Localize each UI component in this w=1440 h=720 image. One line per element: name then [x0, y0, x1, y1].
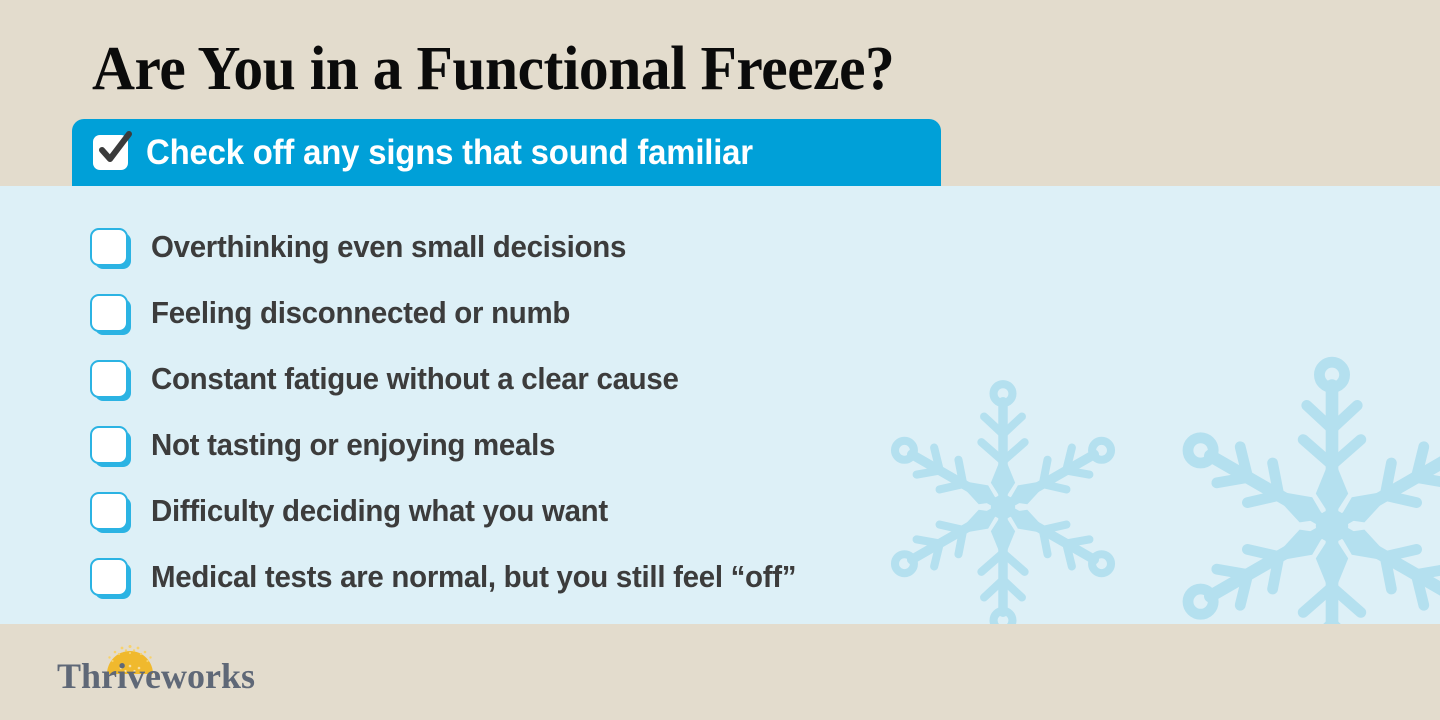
logo-wordmark: Thriveworks: [57, 656, 255, 696]
list-item-label: Overthinking even small decisions: [151, 230, 626, 264]
unchecked-checkbox-icon[interactable]: [90, 426, 128, 464]
unchecked-checkbox-icon[interactable]: [90, 558, 128, 596]
list-item[interactable]: Feeling disconnected or numb: [90, 280, 1090, 346]
page-title: Are You in a Functional Freeze?: [92, 34, 894, 104]
list-item-label: Not tasting or enjoying meals: [151, 428, 555, 462]
list-item-label: Difficulty deciding what you want: [151, 494, 608, 528]
unchecked-checkbox-icon[interactable]: [90, 360, 128, 398]
list-item[interactable]: Difficulty deciding what you want: [90, 478, 1090, 544]
checked-checkbox-icon[interactable]: [93, 135, 128, 170]
thriveworks-logo[interactable]: Thriveworks: [57, 646, 307, 692]
list-item[interactable]: Overthinking even small decisions: [90, 214, 1090, 280]
list-item[interactable]: Medical tests are normal, but you still …: [90, 544, 1090, 610]
list-item-label: Medical tests are normal, but you still …: [151, 560, 796, 594]
instruction-banner: Check off any signs that sound familiar: [72, 119, 941, 186]
list-item-label: Constant fatigue without a clear cause: [151, 362, 679, 396]
unchecked-checkbox-icon[interactable]: [90, 492, 128, 530]
list-item-label: Feeling disconnected or numb: [151, 296, 570, 330]
list-item[interactable]: Not tasting or enjoying meals: [90, 412, 1090, 478]
infographic-canvas: Are You in a Functional Freeze? Check of…: [0, 0, 1440, 720]
unchecked-checkbox-icon[interactable]: [90, 294, 128, 332]
checkmark-icon: [92, 125, 136, 169]
snowflake-icon: [1022, 616, 1352, 624]
snowflake-icon: [1152, 346, 1440, 624]
symptom-checklist: Overthinking even small decisions Feelin…: [90, 214, 1090, 610]
list-item[interactable]: Constant fatigue without a clear cause: [90, 346, 1090, 412]
unchecked-checkbox-icon[interactable]: [90, 228, 128, 266]
instruction-banner-label: Check off any signs that sound familiar: [146, 134, 753, 172]
